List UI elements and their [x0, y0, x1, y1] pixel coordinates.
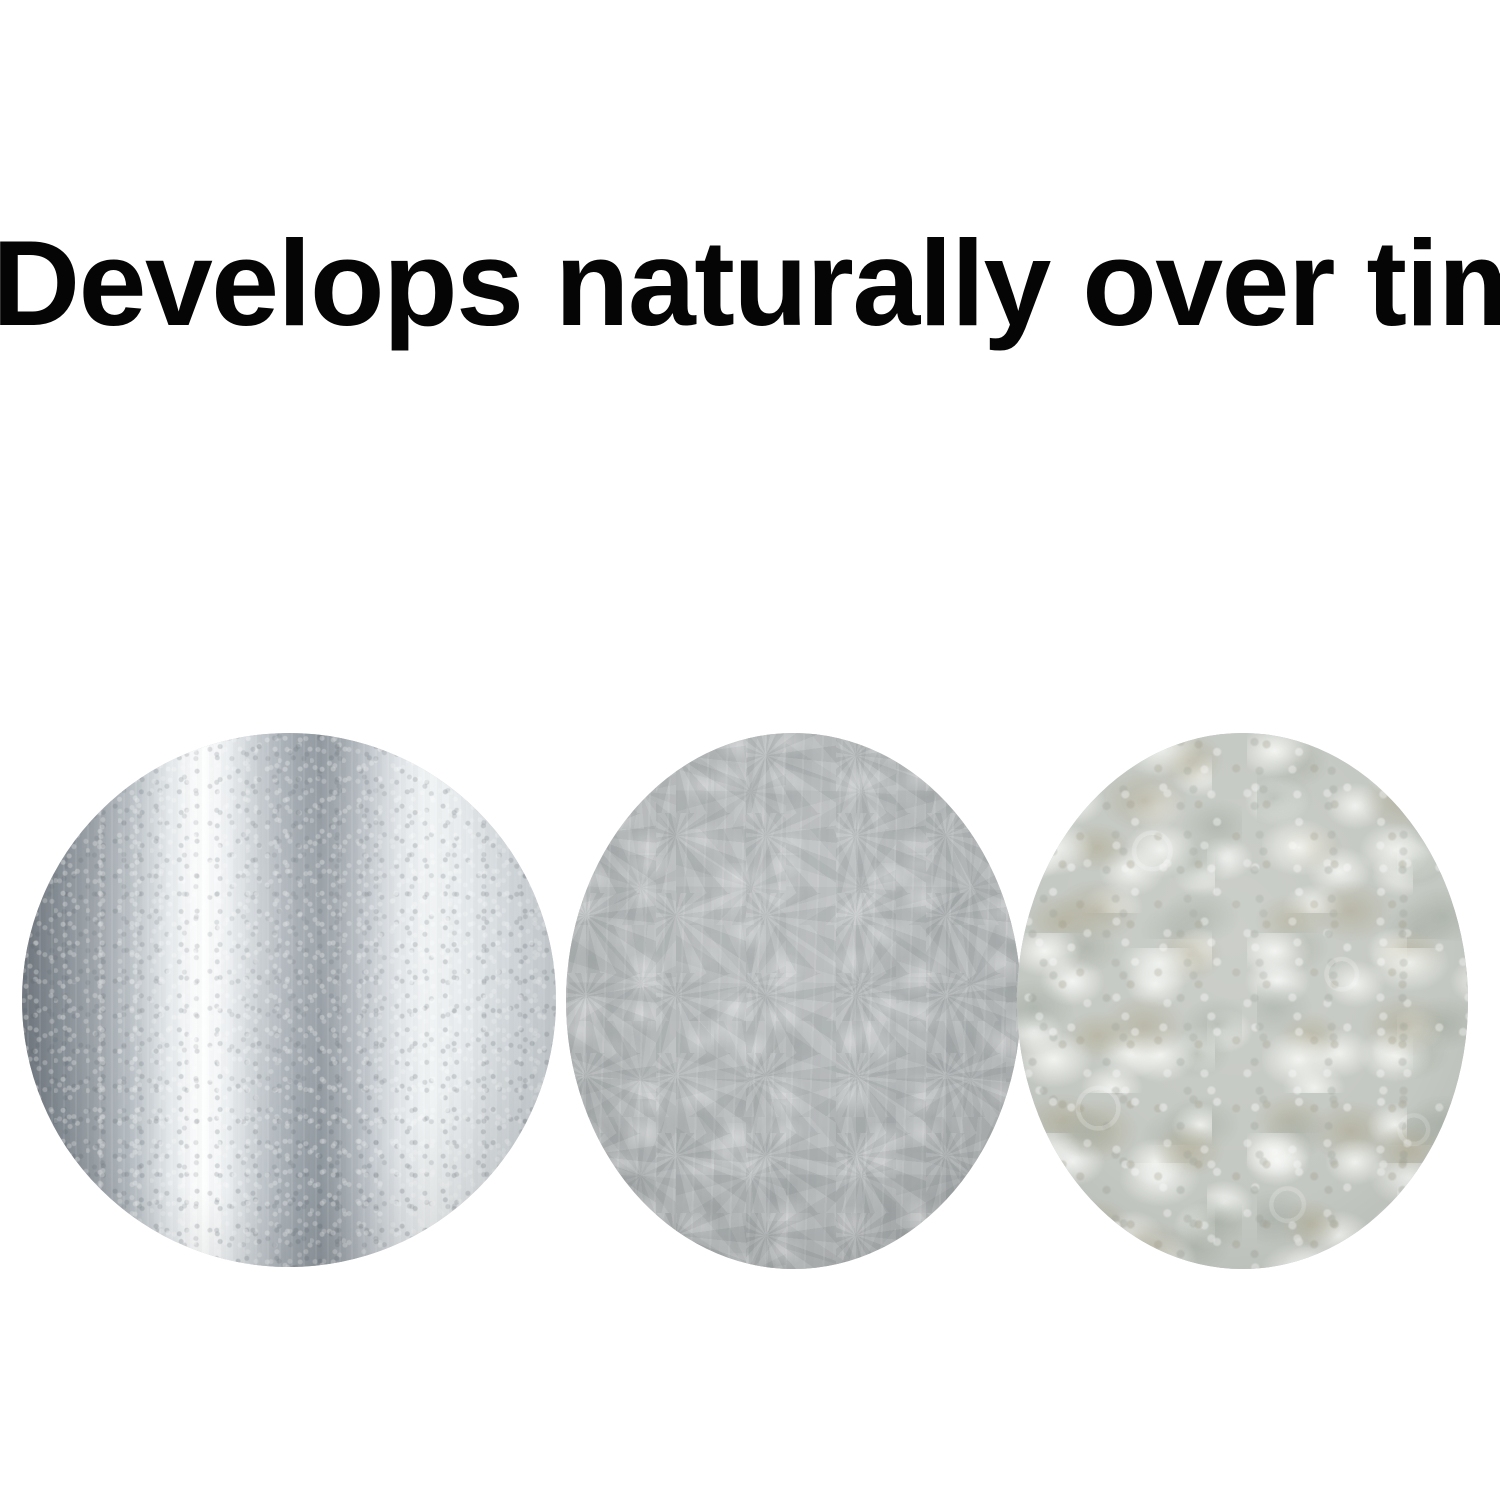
stage-circle-bright-galvanized-zinc: [22, 733, 556, 1267]
slide-canvas: Develops naturally over time: [0, 0, 1500, 1500]
stage-circle-dull-matte-zinc: [566, 733, 1021, 1269]
page-title: Develops naturally over time: [0, 222, 1500, 344]
zinc-shading-overlay: [1017, 733, 1468, 1269]
stage-circle-patinated-zinc: [1017, 733, 1468, 1269]
weathering-stage-row: [0, 733, 1500, 1269]
zinc-shading-overlay: [566, 733, 1021, 1269]
zinc-shading-overlay: [22, 733, 556, 1267]
